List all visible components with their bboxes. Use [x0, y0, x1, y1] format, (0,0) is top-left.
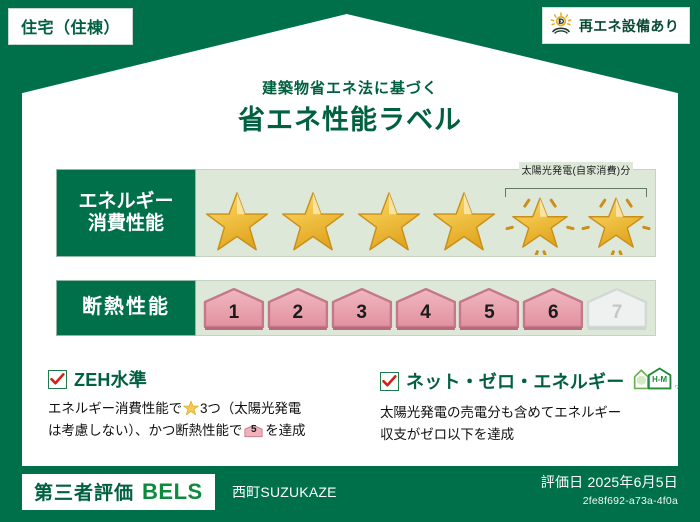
renewable-badge-label: 再エネ設備あり — [579, 16, 679, 36]
zeh-description: エネルギー消費性能で3つ（太陽光発電 は考慮しない）、かつ断熱性能で5を達成 — [48, 398, 348, 442]
insulation-level-value: 2 — [293, 302, 304, 330]
insulation-level-5: 5 — [457, 286, 521, 330]
star-4 — [429, 189, 499, 255]
label-subtitle: 建築物省エネ法に基づく — [22, 77, 678, 98]
evaluation-meta: 評価日 2025年6月5日 2fe8f692-a73a-4f0a — [541, 472, 678, 507]
energy-label-line1: エネルギー — [78, 191, 173, 213]
zeh-m-logo-icon: H-M 「ZEH-M」 — [633, 366, 680, 396]
insulation-level-value: 7 — [612, 302, 623, 330]
insulation-level-6: 6 — [521, 286, 585, 330]
star-3 — [354, 189, 424, 255]
renewable-energy-badge: 再エネ設備あり — [542, 7, 690, 44]
criteria-net-zero-energy: ネット・ゼロ・エネルギー H-M 「ZEH-M」 太陽光発電の売電分も含めてエネ… — [380, 366, 680, 446]
zeh-text-part1: エネルギー消費性能で — [48, 401, 182, 416]
evaluation-uid: 2fe8f692-a73a-4f0a — [541, 495, 678, 507]
insulation-level-value: 5 — [484, 302, 495, 330]
insulation-level-4: 4 — [394, 286, 458, 330]
energy-performance-label: 建築物省エネ法に基づく 省エネ性能ラベル エネルギー 消費性能 太陽光発電(自家… — [0, 0, 700, 522]
property-name: 西町SUZUKAZE — [232, 482, 337, 502]
insulation-level-7: 7 — [585, 286, 649, 330]
sun-icon — [549, 12, 573, 39]
insulation-level-2: 2 — [266, 286, 330, 330]
insulation-level-1: 1 — [202, 286, 266, 330]
insulation-level-scale: 1 2 — [202, 285, 649, 331]
net-zero-title: ネット・ゼロ・エネルギー — [406, 368, 624, 394]
zeh-checkbox — [48, 370, 67, 389]
solar-bracket — [505, 188, 647, 197]
svg-text:「ZEH-M」: 「ZEH-M」 — [673, 383, 680, 389]
insulation-level-value: 4 — [420, 302, 431, 330]
zeh-text-part3: は考慮しない）、かつ断熱性能で — [48, 423, 242, 438]
insulation-levels-panel: 1 2 — [196, 280, 656, 336]
solar-annotation-text: 太陽光発電(自家消費)分 — [519, 162, 632, 177]
insulation-level-value: 3 — [356, 302, 367, 330]
energy-performance-stars-panel: 太陽光発電(自家消費)分 — [196, 169, 656, 257]
insulation-performance-label-box: 断熱性能 — [56, 280, 196, 336]
zeh-text-part2: 3つ（太陽光発電 — [200, 401, 301, 416]
label-card: 建築物省エネ法に基づく 省エネ性能ラベル エネルギー 消費性能 太陽光発電(自家… — [22, 14, 678, 466]
net-zero-checkbox — [380, 372, 399, 391]
dwelling-type-tag: 住宅（住棟） — [8, 8, 133, 45]
third-party-evaluation-label: 第三者評価 — [34, 478, 134, 505]
star-rating — [202, 190, 651, 254]
inline-house-value: 5 — [244, 423, 263, 439]
net-zero-description: 太陽光発電の売電分も含めてエネルギー 収支がゼロ以下を達成 — [380, 402, 680, 446]
svg-text:H-M: H-M — [653, 375, 668, 384]
bels-certification-plate: 第三者評価 BELS — [22, 474, 215, 510]
label-title: 省エネ性能ラベル — [22, 98, 678, 137]
criteria-zeh: ZEH水準 エネルギー消費性能で3つ（太陽光発電 は考慮しない）、かつ断熱性能で… — [48, 366, 348, 442]
energy-performance-row: エネルギー 消費性能 太陽光発電(自家消費)分 — [56, 169, 656, 257]
energy-label-line2: 消費性能 — [88, 213, 164, 235]
inline-star-icon — [183, 400, 199, 416]
solar-annotation: 太陽光発電(自家消費)分 — [503, 161, 649, 179]
star-5-solar — [505, 189, 575, 255]
label-footer: 第三者評価 BELS 西町SUZUKAZE 評価日 2025年6月5日 2fe8… — [0, 466, 700, 522]
insulation-performance-row: 断熱性能 — [56, 280, 656, 336]
net-zero-line1: 太陽光発電の売電分も含めてエネルギー — [380, 405, 621, 420]
insulation-level-value: 6 — [548, 302, 559, 330]
insulation-level-value: 1 — [229, 302, 240, 330]
star-2 — [278, 189, 348, 255]
star-1 — [202, 189, 272, 255]
zeh-title: ZEH水準 — [74, 366, 147, 392]
star-6-solar — [581, 189, 651, 255]
net-zero-line2: 収支がゼロ以下を達成 — [380, 427, 514, 442]
insulation-level-3: 3 — [330, 286, 394, 330]
energy-performance-label-box: エネルギー 消費性能 — [56, 169, 196, 257]
inline-house-badge-icon: 5 — [244, 423, 263, 439]
zeh-text-part4: を達成 — [265, 423, 305, 438]
bels-logo-text: BELS — [142, 479, 203, 505]
evaluation-date: 評価日 2025年6月5日 — [541, 472, 678, 492]
